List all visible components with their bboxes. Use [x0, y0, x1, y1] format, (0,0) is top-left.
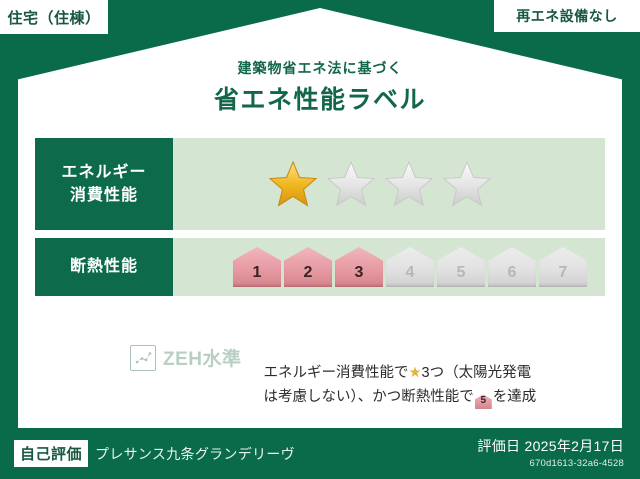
- insulation-grade-5: 5: [437, 247, 485, 287]
- row-energy-label-line1: エネルギー: [61, 161, 146, 184]
- badge-housing-type-label: 住宅（住棟）: [7, 7, 100, 28]
- grade-number: 3: [355, 264, 364, 282]
- row-energy-label-line2: 消費性能: [70, 184, 138, 207]
- star-empty-icon: [326, 159, 376, 209]
- row-energy-performance: エネルギー 消費性能: [35, 138, 605, 230]
- desc-part4: を達成: [493, 389, 537, 405]
- insulation-grade-3: 3: [335, 247, 383, 287]
- grade-number: 7: [559, 264, 568, 282]
- heading-subtitle: 建築物省エネ法に基づく: [0, 58, 640, 78]
- building-name: プレサンス九条グランデリーヴ: [95, 444, 295, 464]
- row-insulation-performance: 断熱性能 1234567: [35, 238, 605, 296]
- grade-number: 4: [406, 264, 415, 282]
- badge-housing-type: 住宅（住棟）: [0, 0, 108, 34]
- grade-number: 6: [508, 264, 517, 282]
- footer-left: 自己評価 プレサンス九条グランデリーヴ: [14, 440, 295, 467]
- insulation-grade-scale: 1234567: [173, 247, 587, 287]
- grade-number: 2: [304, 264, 313, 282]
- page-title: 省エネ性能ラベル: [0, 80, 640, 116]
- achievement-description: エネルギー消費性能で★3つ（太陽光発電は考慮しない）、かつ断熱性能で5を達成: [264, 338, 537, 410]
- star-empty-icon: [442, 159, 492, 209]
- star-rating: [173, 159, 492, 209]
- badge-renewable-energy-label: 再エネ設備なし: [516, 6, 618, 26]
- insulation-grade-2: 2: [284, 247, 332, 287]
- insulation-grade-1: 1: [233, 247, 281, 287]
- row-insulation-label: 断熱性能: [35, 238, 173, 296]
- grade-number: 5: [457, 264, 466, 282]
- star-filled-icon: [268, 159, 318, 209]
- row-energy-value: [173, 138, 605, 230]
- zeh-description-area: ZEH水準 エネルギー消費性能で★3つ（太陽光発電は考慮しない）、かつ断熱性能で…: [130, 338, 536, 410]
- evaluation-date: 評価日 2025年2月17日: [477, 436, 624, 456]
- row-insulation-label-line1: 断熱性能: [70, 255, 138, 278]
- grade-number: 1: [253, 264, 262, 282]
- desc-part1: エネルギー消費性能で: [264, 365, 409, 381]
- insulation-grade-7: 7: [539, 247, 587, 287]
- desc-part2: 3つ（太陽光発電: [422, 365, 532, 381]
- badge-renewable-energy: 再エネ設備なし: [494, 0, 640, 32]
- evaluation-id: 670d1613-32a6-4528: [477, 458, 624, 469]
- row-energy-label: エネルギー 消費性能: [35, 138, 173, 230]
- inline-star-icon: ★: [409, 365, 422, 381]
- footer-right: 評価日 2025年2月17日 670d1613-32a6-4528: [477, 436, 624, 469]
- zeh-label: ZEH水準: [163, 344, 242, 371]
- chart-trend-icon: [130, 345, 156, 371]
- energy-label-root: 住宅（住棟） 再エネ設備なし 建築物省エネ法に基づく 省エネ性能ラベル エネルギ…: [0, 0, 640, 479]
- star-empty-icon: [384, 159, 434, 209]
- zeh-badge: ZEH水準: [130, 338, 242, 371]
- self-evaluation-badge: 自己評価: [14, 440, 88, 467]
- row-insulation-value: 1234567: [173, 238, 605, 296]
- desc-part3: は考慮しない）、かつ断熱性能で: [264, 389, 474, 405]
- inline-grade-house-icon: 5: [475, 394, 492, 409]
- insulation-grade-6: 6: [488, 247, 536, 287]
- insulation-grade-4: 4: [386, 247, 434, 287]
